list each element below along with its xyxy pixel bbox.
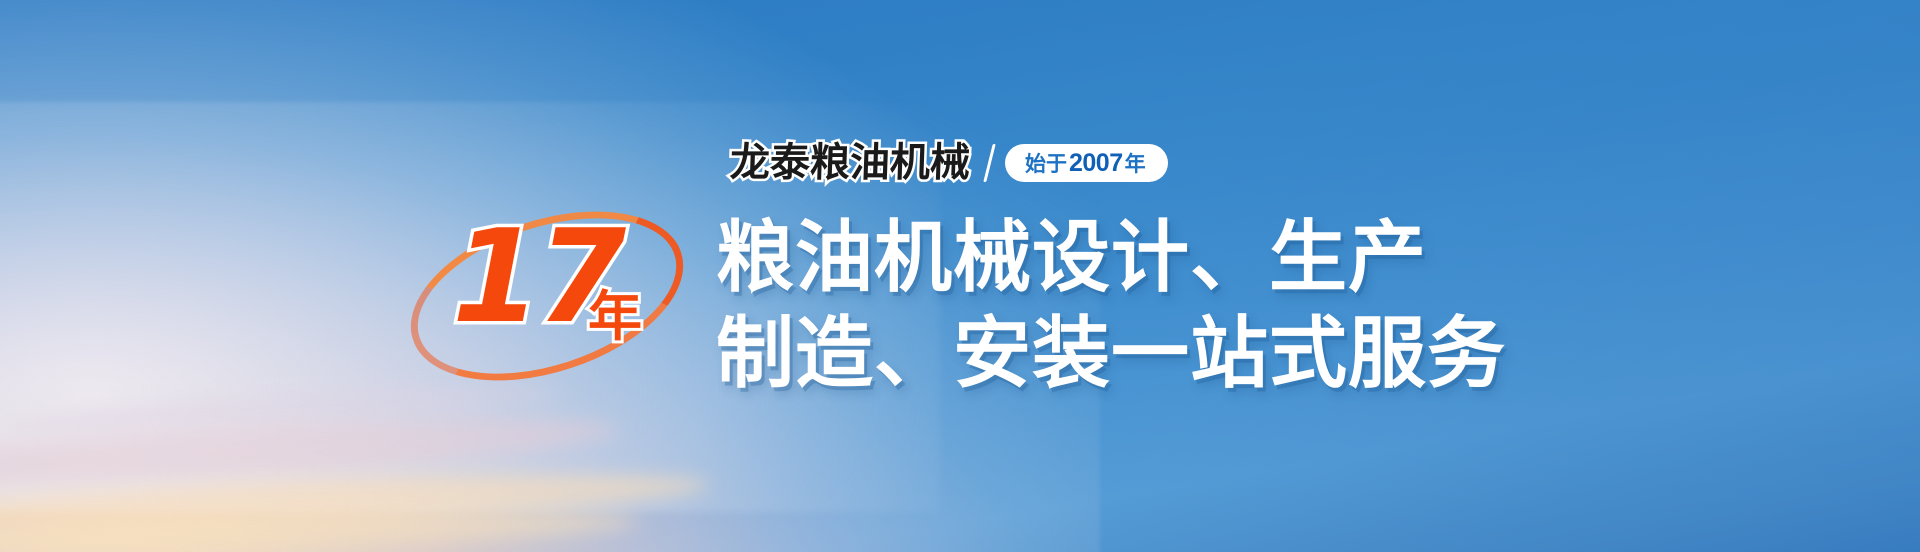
banner-content: 龙泰粮油机械 始于 2007 年 17 年 粮油机械设计、生产 制造、安装一站式… — [0, 0, 1920, 552]
anniversary-years-badge: 17 年 — [452, 214, 642, 364]
anniversary-unit-label: 年 — [588, 290, 642, 344]
brand-lockup: 龙泰粮油机械 始于 2007 年 — [730, 135, 1168, 191]
brand-logo-text: 龙泰粮油机械 — [729, 143, 970, 183]
headline-block: 粮油机械设计、生产 制造、安装一站式服务 — [716, 210, 1506, 402]
established-year: 2007 — [1069, 149, 1123, 178]
headline-line-1: 粮油机械设计、生产 — [716, 210, 1506, 306]
established-prefix: 始于 — [1025, 148, 1067, 178]
promo-banner: 龙泰粮油机械 始于 2007 年 17 年 粮油机械设计、生产 制造、安装一站式… — [0, 0, 1920, 552]
headline-line-2: 制造、安装一站式服务 — [716, 306, 1506, 402]
slash-divider-icon — [983, 144, 995, 182]
established-badge: 始于 2007 年 — [1005, 144, 1168, 182]
established-suffix: 年 — [1125, 148, 1146, 178]
